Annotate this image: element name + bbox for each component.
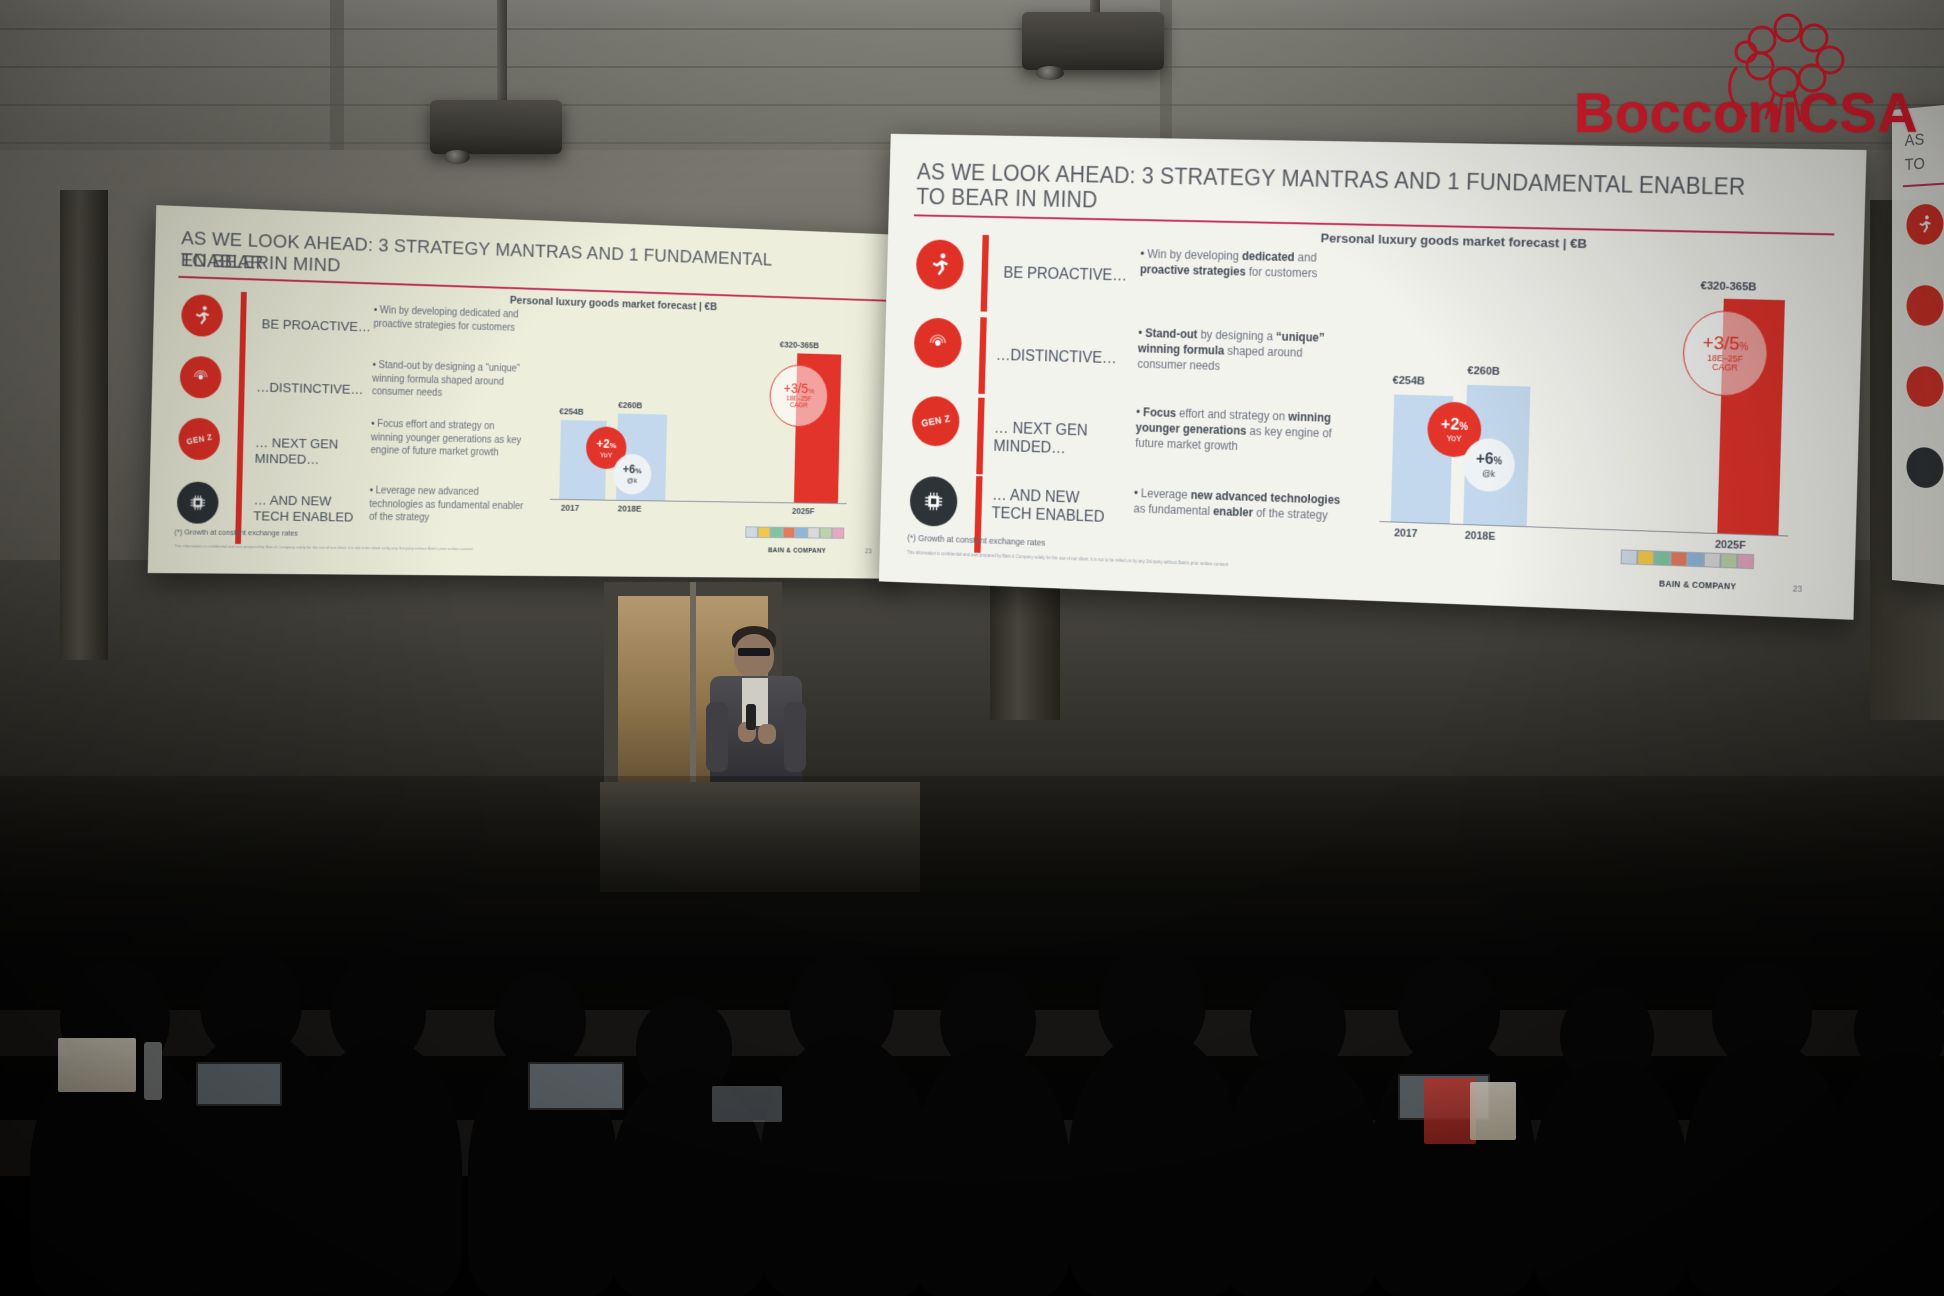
- tech-chip-icon: [909, 476, 958, 527]
- audience-member: [912, 1044, 1070, 1296]
- gen-z-icon: GEN Z: [178, 418, 220, 461]
- projector-lens-left: [444, 150, 470, 164]
- desk-paper: [1470, 1082, 1516, 1140]
- page-number-left: 23: [865, 548, 872, 555]
- gen-z-label: GEN Z: [920, 413, 951, 429]
- xtick-2017: 2017: [1394, 527, 1418, 540]
- runner-icon: [181, 294, 223, 337]
- microphone: [746, 704, 756, 730]
- slide-right: AS WE LOOK AHEAD: 3 STRATEGY MANTRAS AND…: [879, 134, 1867, 620]
- projector-lens-right: [1036, 66, 1064, 80]
- mantra-bullet-3: • Leverage new advanced technologies as …: [1133, 485, 1349, 524]
- mantra-label-1: …DISTINCTIVE…: [996, 346, 1144, 369]
- audience-member: [302, 1038, 462, 1296]
- audience-member: [760, 1034, 930, 1296]
- tech-chip-icon: [1906, 447, 1943, 489]
- mantra-bullet-1: • Stand-out by designing a “unique” winn…: [372, 359, 524, 402]
- mantra-bullet-0: • Win by developing dedicated and proact…: [373, 304, 520, 335]
- fingerprint-icon: [180, 356, 222, 399]
- fingerprint-icon: [914, 317, 963, 368]
- bain-logo-right: BAIN & COMPANY: [1659, 578, 1736, 591]
- screen-glow: [712, 1086, 782, 1122]
- audience-member: [1068, 1030, 1242, 1296]
- ceiling-seam: [330, 0, 344, 150]
- bar-chart-right: €254B €260B €320-365B 2017 2018E 2025F +…: [1362, 247, 1836, 557]
- watermark-bocconicsa: BocconiCSA: [1556, 6, 1944, 176]
- wall-column: [60, 190, 108, 660]
- presenter-arm-left: [706, 702, 728, 772]
- mantra-bullet-1: • Stand-out by designing a “unique” winn…: [1137, 325, 1352, 378]
- bain-logo-left: BAIN & COMPANY: [768, 547, 826, 554]
- lecture-hall-photo: AS WE LOOK AHEAD: 3 STRATEGY MANTRAS AND…: [0, 0, 1944, 1296]
- water-bottle: [144, 1042, 162, 1100]
- laptop: [528, 1062, 624, 1110]
- mantra-bullet-2: • Focus effort and strategy on winning y…: [370, 418, 525, 461]
- mantra-bullet-3: • Leverage new advanced technologies as …: [369, 484, 524, 526]
- mantra-label-3: … AND NEW TECH ENABLED: [991, 486, 1111, 527]
- accent-bar: [978, 317, 986, 394]
- bar-label-2018E: €260B: [1467, 365, 1500, 378]
- bar-label-2017: €254B: [1392, 375, 1425, 388]
- page-number-right: 23: [1793, 584, 1803, 594]
- accent-bar: [237, 419, 244, 483]
- desk-paper: [58, 1038, 136, 1092]
- mantra-label-2: … NEXT GEN MINDED…: [993, 419, 1123, 460]
- gen-z-label: GEN Z: [186, 432, 213, 446]
- projection-screen-left: AS WE LOOK AHEAD: 3 STRATEGY MANTRAS AND…: [148, 205, 909, 579]
- bar-label-2018E: €260B: [618, 400, 642, 410]
- projector-left: [430, 100, 562, 154]
- mantra-label-0: BE PROACTIVE…: [1003, 264, 1142, 286]
- projector-right: [1022, 12, 1164, 70]
- mantra-label-3: … AND NEW TECH ENABLED: [253, 493, 360, 526]
- mantra-label-2: … NEXT GEN MINDED…: [254, 435, 370, 469]
- slide-left: AS WE LOOK AHEAD: 3 STRATEGY MANTRAS AND…: [148, 205, 909, 579]
- chart-kicker-right: Personal luxury goods market forecast | …: [1320, 231, 1587, 251]
- audience-member: [1222, 1048, 1380, 1296]
- gen-z-icon: GEN Z: [911, 396, 960, 447]
- presenter-hand-right: [758, 724, 776, 744]
- fingerprint-icon: [1906, 285, 1943, 326]
- projector-mount-left: [497, 0, 507, 102]
- audience-member: [1532, 1058, 1688, 1296]
- presenter-arm-right: [784, 702, 806, 772]
- audience-member: [1684, 1040, 1848, 1296]
- bar-label-2025F: €320-365B: [780, 340, 820, 351]
- accent-bar: [981, 235, 989, 312]
- presenter-head: [734, 634, 774, 678]
- mantra-bullet-0: • Win by developing dedicated and proact…: [1140, 246, 1338, 282]
- runner-icon: [916, 239, 965, 290]
- xtick-2025F: 2025F: [792, 506, 815, 516]
- slide-footnote: (*) Growth at constant exchange rates: [174, 527, 298, 537]
- slide-legal: This information is confidential and was…: [174, 543, 473, 551]
- mantra-label-1: …DISTINCTIVE…: [256, 380, 382, 399]
- projection-screen-right: AS WE LOOK AHEAD: 3 STRATEGY MANTRAS AND…: [879, 134, 1867, 620]
- bar-label-2017: €254B: [559, 406, 584, 416]
- laptop: [196, 1062, 282, 1106]
- xtick-2025F: 2025F: [1715, 539, 1746, 552]
- red-flyer: [1424, 1078, 1476, 1144]
- watermark-label: BocconiCSA: [1574, 80, 1918, 145]
- xtick-2017: 2017: [561, 503, 580, 513]
- mantra-bullet-2: • Focus effort and strategy on winning y…: [1135, 404, 1354, 458]
- xtick-2018E: 2018E: [1465, 530, 1496, 543]
- accent-bar: [976, 398, 984, 475]
- bar-label-2025F: €320-365B: [1700, 280, 1756, 293]
- accent-bar: [239, 292, 246, 356]
- bar-chart-left: €254B €260B €320-365B 2017 2018E 2025F +…: [533, 311, 879, 522]
- slide-legal: This information is confidential and was…: [907, 550, 1229, 567]
- presenter-glasses: [738, 648, 770, 656]
- accent-bar: [238, 355, 245, 419]
- runner-icon: [1906, 203, 1943, 245]
- tech-chip-icon: [177, 481, 219, 523]
- gen-z-icon: [1906, 366, 1943, 407]
- icon-strip-left: [745, 526, 844, 538]
- xtick-2018E: 2018E: [618, 504, 642, 514]
- mantra-label-0: BE PROACTIVE…: [261, 316, 377, 335]
